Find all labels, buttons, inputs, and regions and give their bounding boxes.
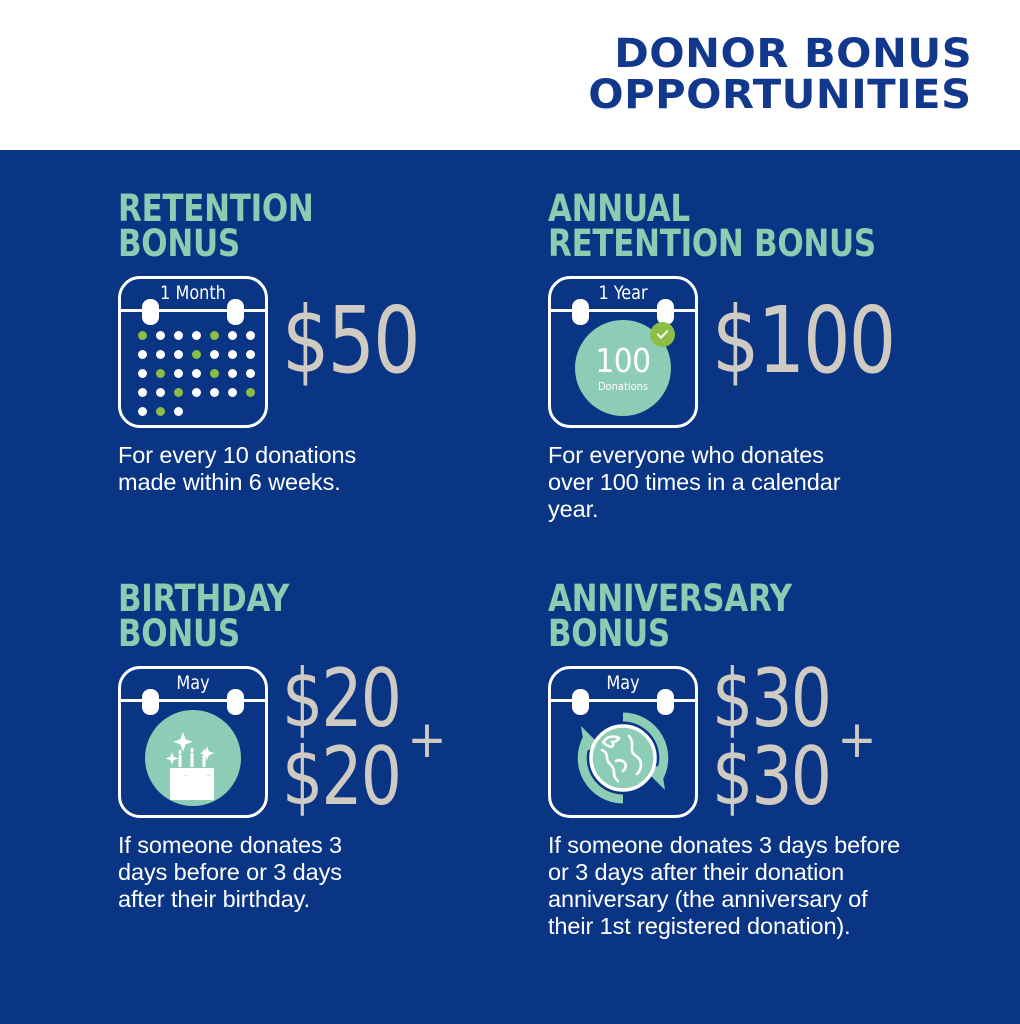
donation-dot-filled [192,350,201,359]
amount-stack: $50 [282,270,434,413]
donation-dot-filled [210,331,219,340]
retention-icon-amount-row: 1 Month $50 [118,276,538,428]
content-panel: RETENTION BONUS 1 Month $50 For every 10… [0,150,1020,1024]
donation-dot [210,350,219,359]
card-description-birthday: If someone donates 3 days before or 3 da… [118,832,538,914]
calendar-icon-annual: 1 Year 100 Donations [548,276,698,428]
donation-dot [228,369,237,378]
calendar-body [121,702,265,815]
card-title-birthday: BIRTHDAY BONUS [118,582,509,652]
annual-amount-wrap: $100 [712,270,915,413]
amount-birthday-line-1: $20 [282,660,400,738]
calendar-body: 100 Donations [551,312,695,425]
amount-anniversary-plus: + [837,714,876,766]
donation-dot-filled [246,388,255,397]
amount-anniversary-line-1: $30 [712,660,830,738]
donations-count-label: Donations [598,381,648,392]
donations-count-number: 100 [595,344,650,377]
birthday-icon-amount-row: May [118,666,538,818]
calendar-body [121,312,265,425]
calendar-icon-retention: 1 Month [118,276,268,428]
donation-dot [174,369,183,378]
donation-dot-filled [174,388,183,397]
calendar-icon-anniversary: May [548,666,698,818]
donation-dot [246,350,255,359]
donation-dot [210,388,219,397]
check-icon [650,322,675,347]
donation-dot [156,350,165,359]
donation-dot-filled [156,369,165,378]
header-band: DONOR BONUS OPPORTUNITIES [0,0,1020,150]
donation-dot [138,407,147,416]
donation-dot [192,388,201,397]
anniversary-amount-wrap: $30 $30 + [712,660,877,817]
amount-stack: $100 [712,270,915,413]
birthday-cake-icon [145,710,241,806]
amount-anniversary-line-2: $30 [712,738,830,816]
card-title-retention: RETENTION BONUS [118,192,509,262]
calendar-dot-grid [133,326,259,421]
donations-count-badge: 100 Donations [575,320,671,416]
donation-dot [192,331,201,340]
donation-dot [246,369,255,378]
donation-dot [138,350,147,359]
page-title-line-1: DONOR BONUS [614,34,972,75]
amount-stack: $30 $30 [712,660,843,817]
amount-retention: $50 [282,270,419,413]
amount-annual: $100 [712,270,894,413]
donation-dot [192,369,201,378]
donation-dot [138,388,147,397]
amount-birthday-line-2: $20 [282,738,400,816]
card-annual-retention-bonus: ANNUAL RETENTION BONUS 1 Year 100 Donati… [548,192,998,523]
calendar-icon-birthday: May [118,666,268,818]
donation-dot [156,331,165,340]
page-title-line-2: OPPORTUNITIES [589,75,972,116]
card-description-anniversary: If someone donates 3 days before or 3 da… [548,832,1000,941]
donation-dot [174,407,183,416]
donation-dot [138,369,147,378]
donation-dot [228,350,237,359]
globe-recycle-icon [569,704,677,812]
card-anniversary-bonus: ANNIVERSARY BONUS May [548,582,1000,941]
card-description-retention: For every 10 donations made within 6 wee… [118,442,538,497]
donation-dot [174,331,183,340]
donation-dot [228,331,237,340]
donation-dot [156,388,165,397]
donation-dot-filled [156,407,165,416]
donation-dot [228,388,237,397]
amount-stack: $20 $20 [282,660,413,817]
calendar-body [551,702,695,815]
retention-amount-wrap: $50 [282,270,434,413]
donation-dot [246,331,255,340]
donation-dot [174,350,183,359]
donation-dot-filled [210,369,219,378]
card-birthday-bonus: BIRTHDAY BONUS May [118,582,538,913]
card-title-anniversary: ANNIVERSARY BONUS [548,582,968,652]
birthday-amount-wrap: $20 $20 + [282,660,447,817]
card-description-annual: For everyone who donates over 100 times … [548,442,998,524]
donation-dot-filled [138,331,147,340]
annual-icon-amount-row: 1 Year 100 Donations [548,276,998,428]
anniversary-icon-amount-row: May [548,666,1000,818]
amount-birthday-plus: + [407,714,446,766]
card-retention-bonus: RETENTION BONUS 1 Month $50 For every 10… [118,192,538,496]
card-title-annual: ANNUAL RETENTION BONUS [548,192,967,262]
